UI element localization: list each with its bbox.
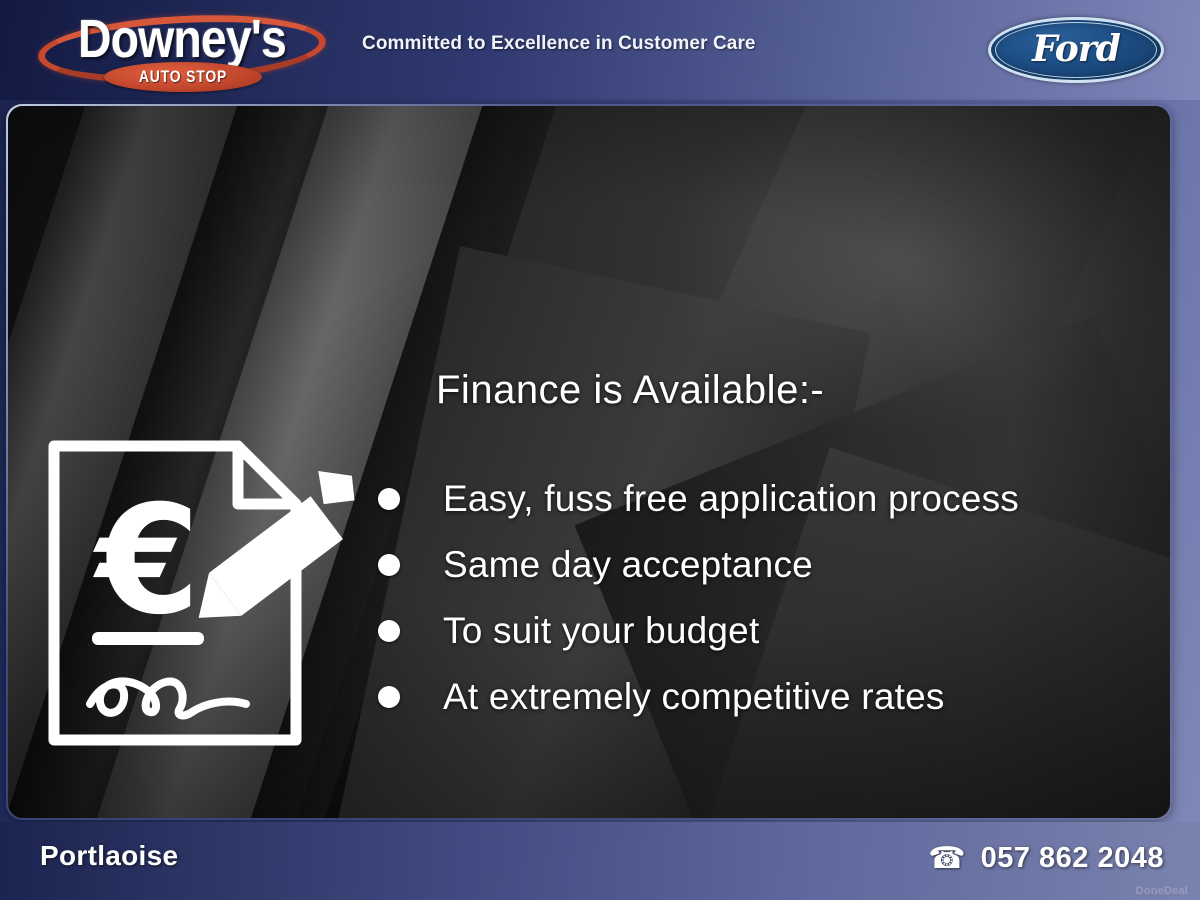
list-item-label: At extremely competitive rates [443, 676, 945, 718]
benefit-list: Easy, fuss free application process Same… [378, 466, 1019, 730]
list-item: Same day acceptance [378, 532, 1019, 598]
bullet-dot-icon [378, 488, 400, 510]
list-item-label: To suit your budget [443, 610, 759, 652]
logo-brand-text: Downey's [53, 10, 311, 68]
main-panel-frame: € Finance is Available:- [6, 104, 1172, 820]
euro-symbol: € [93, 474, 200, 648]
phone-contact[interactable]: ☎ 057 862 2048 [928, 842, 1164, 875]
location-label: Portlaoise [40, 840, 178, 872]
phone-number: 057 862 2048 [981, 842, 1164, 875]
source-watermark: DoneDeal [1136, 885, 1188, 897]
bullet-dot-icon [378, 554, 400, 576]
pen-icon [199, 471, 358, 628]
logo-subtitle-text: AUTO STOP [118, 67, 248, 87]
ford-logo[interactable]: Ford [988, 17, 1164, 83]
header-tagline: Committed to Excellence in Customer Care [362, 33, 756, 55]
euro-document-signature-icon: € [40, 432, 360, 754]
bullet-dot-icon [378, 620, 400, 642]
dealer-logo[interactable]: Downey's AUTO STOP [32, 4, 332, 98]
header-bar: Downey's AUTO STOP Committed to Excellen… [0, 0, 1200, 100]
main-panel: € Finance is Available:- [8, 106, 1170, 818]
bullet-dot-icon [378, 686, 400, 708]
advert-screen: Downey's AUTO STOP Committed to Excellen… [0, 0, 1200, 900]
list-item: At extremely competitive rates [378, 664, 1019, 730]
ford-wordmark: Ford [988, 17, 1164, 83]
document-rule-line [92, 632, 204, 645]
list-item-label: Same day acceptance [443, 544, 813, 586]
footer-bar: Portlaoise ☎ 057 862 2048 DoneDeal [0, 822, 1200, 900]
page-title: Finance is Available:- [436, 368, 824, 413]
telephone-icon: ☎ [928, 844, 965, 874]
signature-squiggle [90, 681, 246, 715]
list-item: Easy, fuss free application process [378, 466, 1019, 532]
list-item: To suit your budget [378, 598, 1019, 664]
list-item-label: Easy, fuss free application process [443, 478, 1019, 520]
